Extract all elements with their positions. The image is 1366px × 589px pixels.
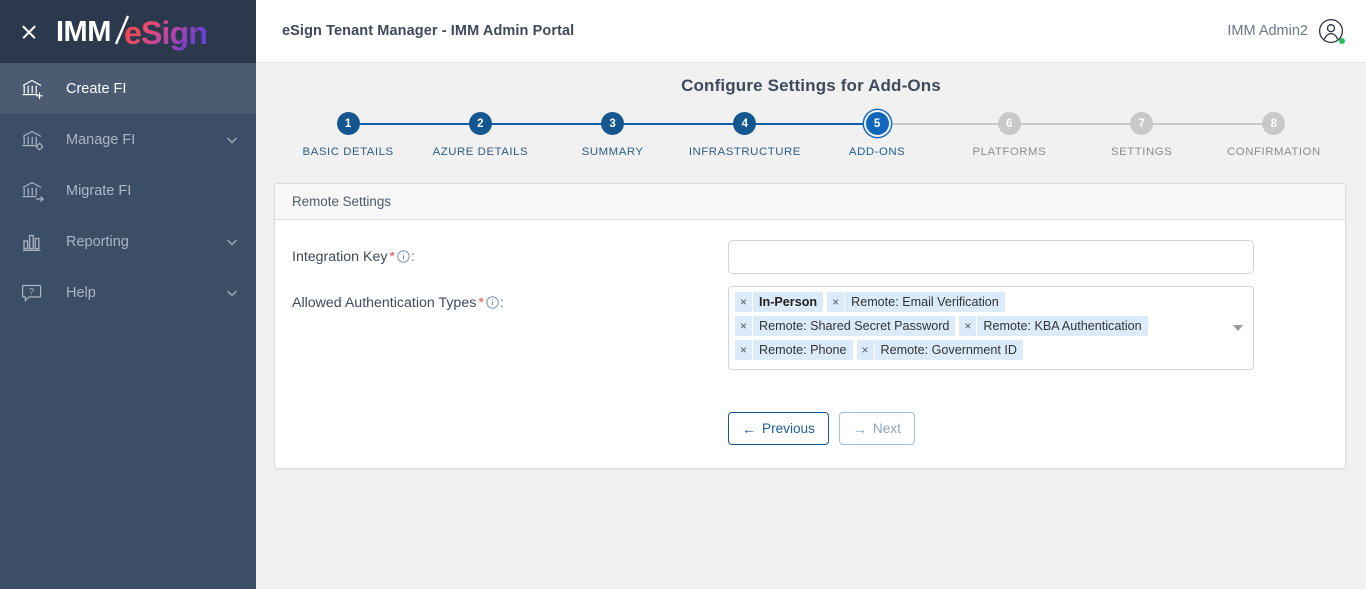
step-number[interactable]: 6 <box>998 112 1021 135</box>
app-title: eSign Tenant Manager - IMM Admin Portal <box>282 23 574 39</box>
chip-label: Remote: Email Verification <box>845 292 1005 312</box>
sidebar-item-create-fi[interactable]: Create FI <box>0 63 256 114</box>
required-asterisk: * <box>478 295 484 311</box>
field-row-integration-key: Integration Key*: <box>275 240 1345 274</box>
info-icon[interactable] <box>397 251 410 267</box>
chip-remove-icon[interactable]: × <box>735 340 753 360</box>
logo-svg: IMM eSign <box>56 12 216 52</box>
panel-header: Remote Settings <box>275 184 1345 220</box>
label-colon: : <box>500 295 504 311</box>
close-icon[interactable] <box>16 19 42 45</box>
bank-gear-icon <box>18 127 48 153</box>
chip-label: Remote: KBA Authentication <box>977 316 1147 336</box>
page-title: Configure Settings for Add-Ons <box>256 63 1366 96</box>
step-label: ADD-ONS <box>849 146 905 158</box>
chip-remove-icon[interactable]: × <box>827 292 845 312</box>
step-settings[interactable]: 7 SETTINGS <box>1076 112 1208 158</box>
chip-remote-phone[interactable]: × Remote: Phone <box>735 340 853 360</box>
user-name: IMM Admin2 <box>1227 23 1308 39</box>
chip-label: Remote: Phone <box>753 340 853 360</box>
chip-remove-icon[interactable]: × <box>959 316 977 336</box>
step-connector <box>745 123 877 125</box>
next-button-label: Next <box>873 421 901 436</box>
step-label: BASIC DETAILS <box>303 146 394 158</box>
step-summary[interactable]: 3 SUMMARY <box>547 112 679 158</box>
online-status-dot <box>1339 38 1345 44</box>
svg-text:?: ? <box>29 286 34 297</box>
sidebar-item-help[interactable]: ? Help <box>0 267 256 318</box>
allowed-auth-types-label-text: Allowed Authentication Types <box>292 295 476 311</box>
step-connector <box>348 123 480 125</box>
sidebar-item-reporting[interactable]: Reporting <box>0 216 256 267</box>
step-label: INFRASTRUCTURE <box>689 146 801 158</box>
step-infrastructure[interactable]: 4 INFRASTRUCTURE <box>679 112 811 158</box>
sidebar-item-label: Create FI <box>66 81 240 97</box>
content-area: Configure Settings for Add-Ons 1 BASIC D… <box>256 63 1366 589</box>
chip-in-person[interactable]: × In-Person <box>735 292 823 312</box>
arrow-left-icon: ← <box>742 422 756 436</box>
step-label: SETTINGS <box>1111 146 1172 158</box>
chevron-down-icon[interactable] <box>224 132 240 148</box>
chip-label: In-Person <box>753 292 823 312</box>
step-number[interactable]: 1 <box>337 112 360 135</box>
step-label: CONFIRMATION <box>1227 146 1321 158</box>
step-label: AZURE DETAILS <box>433 146 529 158</box>
app-root: IMM eSign Create FI <box>0 0 1366 589</box>
previous-button[interactable]: ← Previous <box>728 412 829 445</box>
avatar[interactable] <box>1318 18 1344 44</box>
allowed-auth-types-multiselect[interactable]: × In-Person × Remote: Email Verification… <box>728 286 1254 370</box>
sidebar-item-label: Reporting <box>66 234 224 250</box>
step-confirmation[interactable]: 8 CONFIRMATION <box>1208 112 1340 158</box>
chip-remote-government-id[interactable]: × Remote: Government ID <box>857 340 1023 360</box>
main-area: eSign Tenant Manager - IMM Admin Portal … <box>256 0 1366 589</box>
chip-remote-kba-authentication[interactable]: × Remote: KBA Authentication <box>959 316 1147 336</box>
step-label: PLATFORMS <box>973 146 1047 158</box>
sidebar-nav: Create FI Manage FI <box>0 63 256 318</box>
top-bar: eSign Tenant Manager - IMM Admin Portal … <box>256 0 1366 63</box>
sidebar: IMM eSign Create FI <box>0 0 256 589</box>
next-button[interactable]: → Next <box>839 412 915 445</box>
remote-settings-panel: Remote Settings Integration Key*: Allowe… <box>274 183 1346 469</box>
integration-key-label-text: Integration Key <box>292 249 387 265</box>
chevron-down-icon[interactable] <box>224 285 240 301</box>
step-number[interactable]: 8 <box>1262 112 1285 135</box>
chip-label: Remote: Shared Secret Password <box>753 316 955 336</box>
label-colon: : <box>411 249 415 265</box>
wizard-stepper: 1 BASIC DETAILS 2 AZURE DETAILS 3 SUMMAR… <box>282 112 1340 158</box>
integration-key-input[interactable] <box>728 240 1254 274</box>
svg-text:IMM: IMM <box>56 16 111 48</box>
step-connector <box>1142 123 1274 125</box>
sidebar-header: IMM eSign <box>0 0 256 63</box>
field-row-allowed-auth-types: Allowed Authentication Types*: × In-Pers… <box>275 286 1345 370</box>
step-add-ons[interactable]: 5 ADD-ONS <box>811 112 943 158</box>
sidebar-item-manage-fi[interactable]: Manage FI <box>0 114 256 165</box>
panel-body: Integration Key*: Allowed Authentication… <box>275 220 1345 445</box>
step-platforms[interactable]: 6 PLATFORMS <box>943 112 1075 158</box>
bank-arrow-icon <box>18 178 48 204</box>
question-help-icon: ? <box>18 280 48 306</box>
allowed-auth-types-label: Allowed Authentication Types*: <box>292 286 728 313</box>
chip-remote-shared-secret-password[interactable]: × Remote: Shared Secret Password <box>735 316 955 336</box>
integration-key-label: Integration Key*: <box>292 240 728 267</box>
wizard-button-row: ← Previous → Next <box>275 412 1345 445</box>
chip-remove-icon[interactable]: × <box>735 292 753 312</box>
bar-chart-icon <box>18 229 48 255</box>
chevron-down-icon[interactable] <box>1233 325 1243 331</box>
imm-esign-logo: IMM eSign <box>56 10 216 54</box>
info-icon[interactable] <box>486 297 499 313</box>
step-number[interactable]: 3 <box>601 112 624 135</box>
svg-text:eSign: eSign <box>124 15 207 51</box>
arrow-right-icon: → <box>853 422 867 436</box>
chip-remote-email-verification[interactable]: × Remote: Email Verification <box>827 292 1005 312</box>
step-label: SUMMARY <box>582 146 644 158</box>
sidebar-item-label: Manage FI <box>66 132 224 148</box>
sidebar-item-label: Migrate FI <box>66 183 240 199</box>
step-basic-details[interactable]: 1 BASIC DETAILS <box>282 112 414 158</box>
step-connector <box>613 123 745 125</box>
sidebar-item-label: Help <box>66 285 224 301</box>
step-number[interactable]: 5 <box>866 112 889 135</box>
step-azure-details[interactable]: 2 AZURE DETAILS <box>414 112 546 158</box>
sidebar-item-migrate-fi[interactable]: Migrate FI <box>0 165 256 216</box>
chip-remove-icon[interactable]: × <box>857 340 875 360</box>
previous-button-label: Previous <box>762 421 815 436</box>
step-number[interactable]: 7 <box>1130 112 1153 135</box>
step-connector <box>877 123 1009 125</box>
chip-remove-icon[interactable]: × <box>735 316 753 336</box>
chevron-down-icon[interactable] <box>224 234 240 250</box>
step-connector <box>1009 123 1141 125</box>
step-number[interactable]: 4 <box>733 112 756 135</box>
step-connector <box>480 123 612 125</box>
chip-label: Remote: Government ID <box>875 340 1023 360</box>
required-asterisk: * <box>389 249 395 265</box>
step-number[interactable]: 2 <box>469 112 492 135</box>
user-menu[interactable]: IMM Admin2 <box>1227 18 1344 44</box>
bank-plus-icon <box>18 76 48 102</box>
